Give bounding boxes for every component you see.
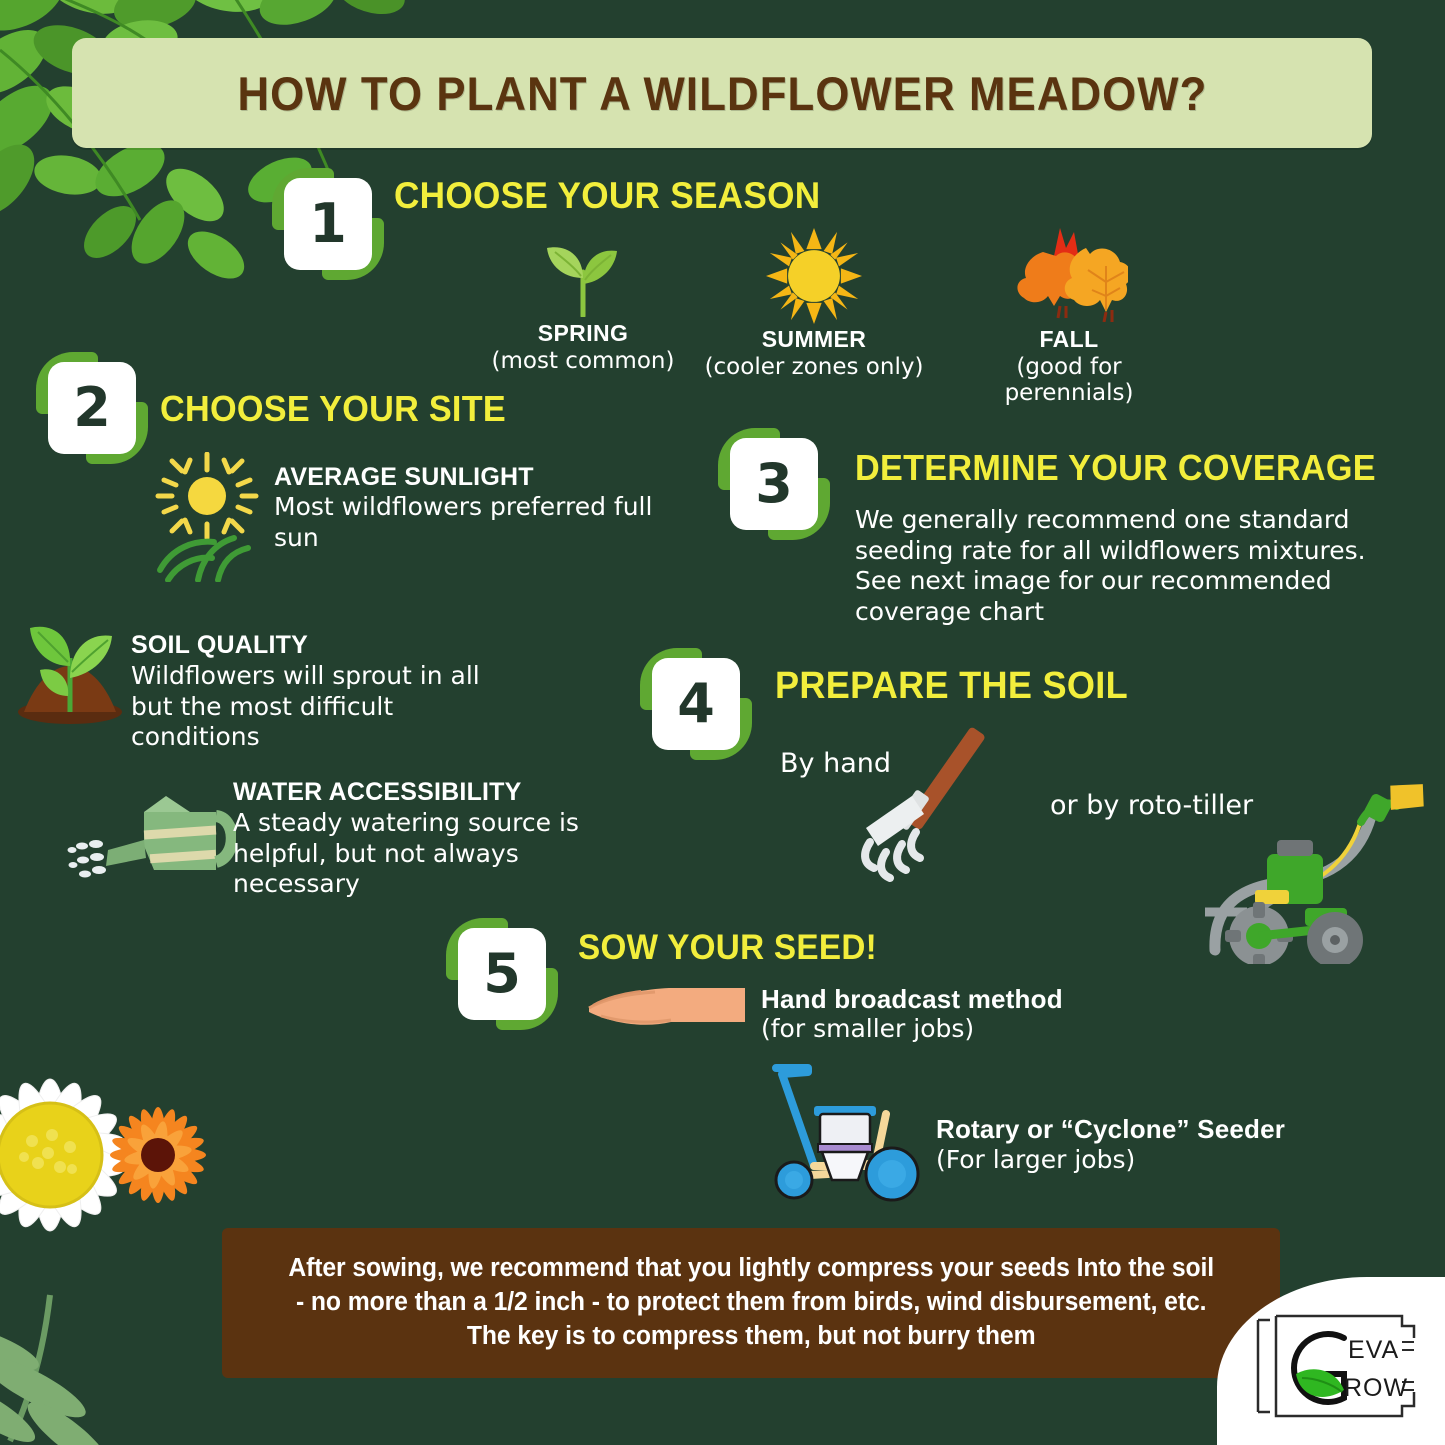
logo-text-row: ROW (1344, 1374, 1408, 1403)
site-water-body: A steady watering source is helpful, but… (233, 808, 593, 900)
badge-card: 1 (284, 178, 372, 270)
sow-hand-title: Hand broadcast method (761, 984, 1063, 1015)
step-3-badge: 3 (718, 428, 830, 540)
logo-text-eva: EVA (1348, 1336, 1399, 1365)
sow-seeder-note: (For larger jobs) (936, 1145, 1256, 1176)
season-summer-note: (cooler zones only) (694, 354, 934, 380)
logo-frame-icon (1252, 1312, 1420, 1420)
step-2-heading: CHOOSE YOUR SITE (160, 388, 506, 430)
open-hand-icon (585, 978, 755, 1043)
season-spring-caption: SPRING (most common) (463, 320, 703, 374)
step-4-badge: 4 (640, 648, 752, 760)
sow-hand-note: (for smaller jobs) (761, 1014, 1081, 1045)
sun-icon (766, 228, 862, 324)
season-spring-note: (most common) (463, 348, 703, 374)
sprout-in-soil-icon (14, 604, 126, 724)
callout-line-3: The key is to compress them, but not bur… (467, 1322, 1036, 1350)
bottom-callout: After sowing, we recommend that you ligh… (222, 1228, 1280, 1378)
autumn-leaves-icon (1008, 222, 1128, 322)
step-2-badge: 2 (36, 352, 148, 464)
badge-card: 5 (458, 928, 546, 1020)
rotary-seeder-icon (752, 1062, 942, 1202)
watering-can-icon (66, 784, 236, 894)
season-fall-note: (good for perennials) (949, 354, 1189, 406)
badge-card: 2 (48, 362, 136, 454)
sow-seeder-title: Rotary or “Cyclone” Seeder (936, 1114, 1285, 1145)
badge-card: 4 (652, 658, 740, 750)
season-fall-name: FALL (949, 326, 1189, 353)
season-summer-caption: SUMMER (cooler zones only) (694, 326, 934, 380)
step-1-badge: 1 (272, 168, 384, 280)
site-sunlight-title: AVERAGE SUNLIGHT (274, 463, 534, 492)
site-soil-body: Wildflowers will sprout in all but the m… (131, 661, 491, 753)
site-soil-title: SOIL QUALITY (131, 631, 308, 660)
step-3-number: 3 (755, 457, 793, 511)
page-title: HOW TO PLANT A WILDFLOWER MEADOW? (237, 66, 1207, 121)
infographic-canvas: HOW TO PLANT A WILDFLOWER MEADOW? 1 CHOO… (0, 0, 1445, 1445)
step-3-heading: DETERMINE YOUR COVERAGE (855, 447, 1376, 489)
season-fall-caption: FALL (good for perennials) (949, 326, 1189, 406)
callout-line-1: After sowing, we recommend that you ligh… (288, 1254, 1214, 1282)
site-water-title: WATER ACCESSIBILITY (233, 778, 522, 807)
seedling-icon (533, 232, 633, 317)
sun-over-field-icon (152, 452, 262, 582)
step-5-number: 5 (483, 947, 521, 1001)
page-title-bar: HOW TO PLANT A WILDFLOWER MEADOW? (72, 38, 1372, 148)
rake-icon (842, 726, 1022, 886)
roto-tiller-icon (1185, 782, 1435, 964)
step-5-heading: SOW YOUR SEED! (578, 928, 877, 968)
step-2-number: 2 (73, 381, 111, 435)
logo-inner: EVA ROW (1258, 1316, 1418, 1420)
season-spring-name: SPRING (463, 320, 703, 347)
step-4-heading: PREPARE THE SOIL (775, 665, 1128, 708)
site-sunlight-body: Most wildflowers preferred full sun (274, 492, 654, 553)
step-5-badge: 5 (446, 918, 558, 1030)
season-summer-name: SUMMER (694, 326, 934, 353)
step-4-number: 4 (677, 677, 715, 731)
step-1-number: 1 (309, 197, 347, 251)
step-3-body: We generally recommend one standard seed… (855, 505, 1375, 627)
callout-line-2: - no more than a 1/2 inch - to protect t… (296, 1288, 1206, 1316)
badge-card: 3 (730, 438, 818, 530)
step-1-heading: CHOOSE YOUR SEASON (394, 175, 820, 217)
